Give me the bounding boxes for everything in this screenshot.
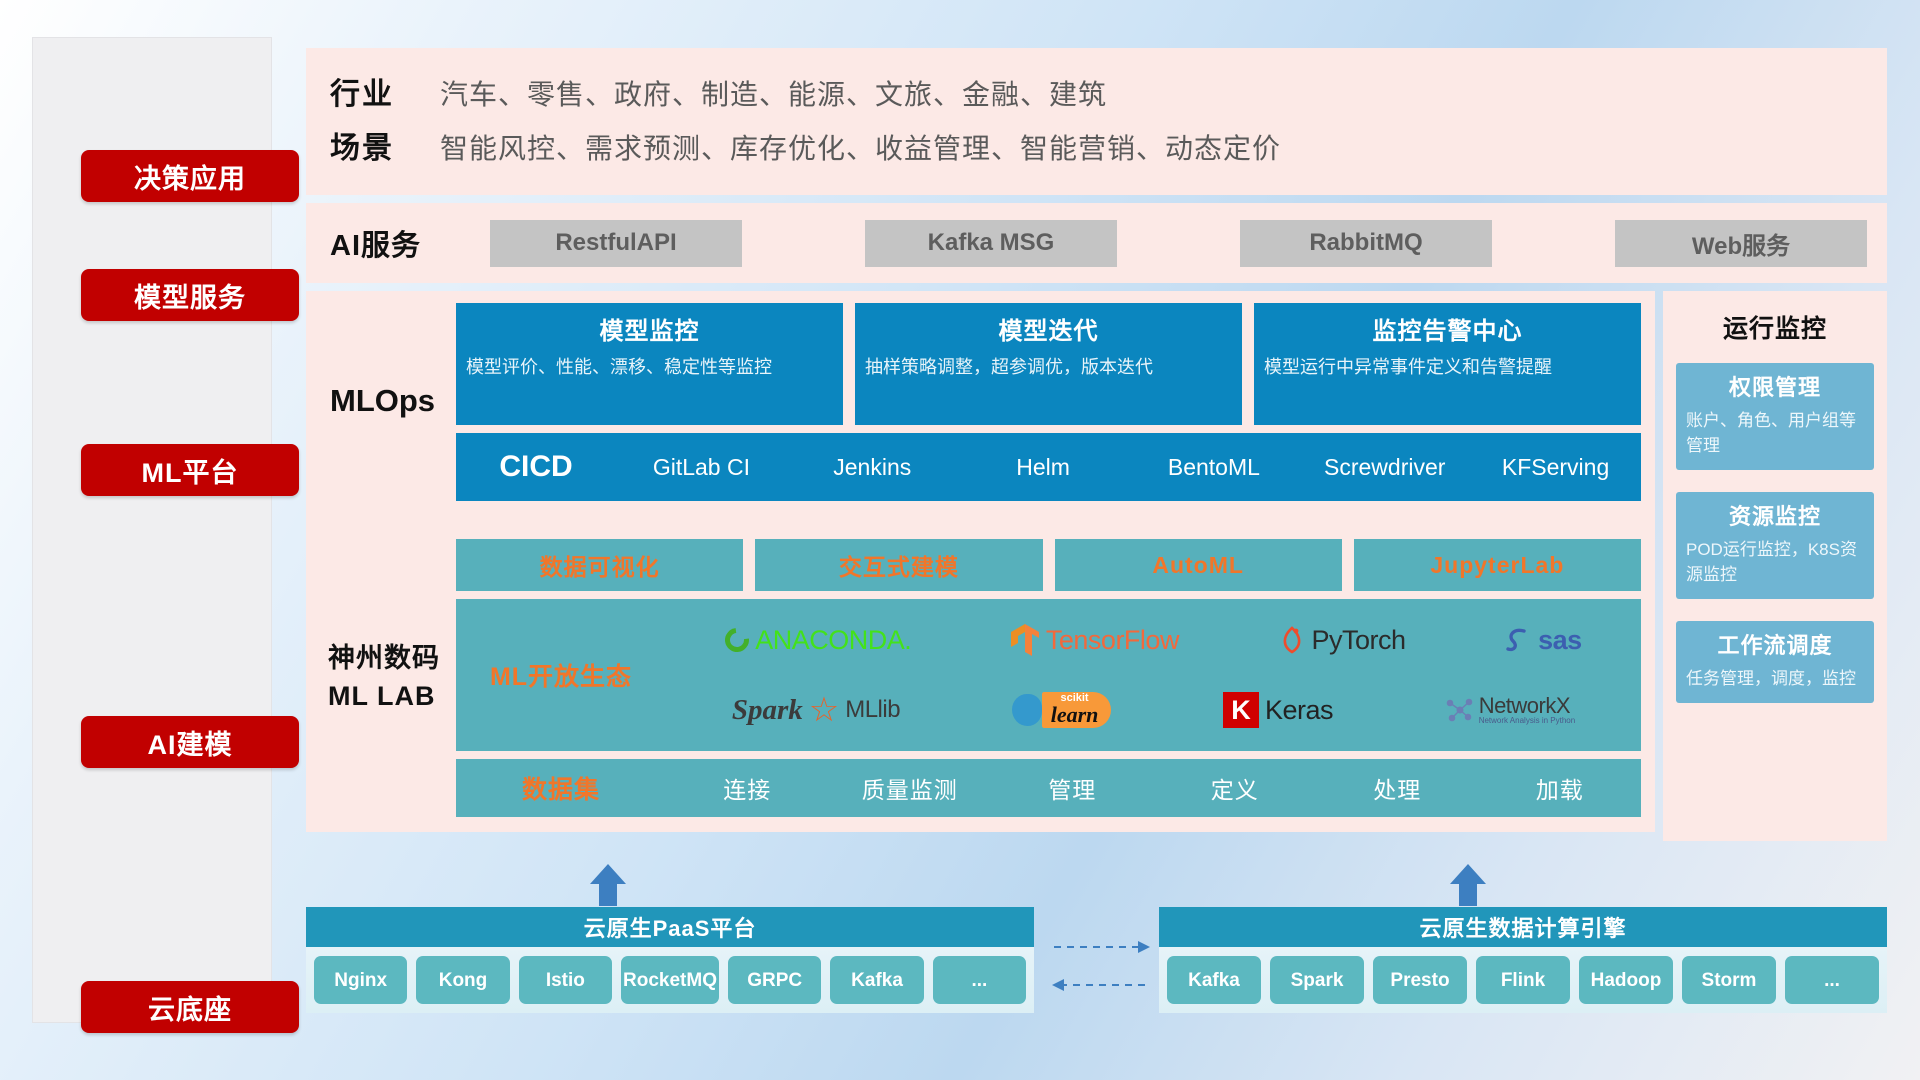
data-engine-chip-spark[interactable]: Spark [1270,956,1364,1004]
dataset-title: 数据集 [456,770,666,806]
ml-lab-label: 神州数码 ML LAB [328,639,440,715]
ml-lab-label-line2: ML LAB [328,677,440,715]
mlops-cards: 模型监控 模型评价、性能、漂移、稳定性等监控 模型迭代 抽样策略调整，超参调优，… [456,303,1641,425]
paas-title: 云原生PaaS平台 [306,907,1034,947]
rail-item-ml-platform[interactable]: ML平台 [81,444,299,496]
dataset-item-definition[interactable]: 定义 [1154,771,1317,805]
monitor-card-title: 资源监控 [1686,499,1864,531]
ecosystem-logos: ANACONDA. TensorFlow [666,599,1641,751]
cicd-title: CICD [456,433,616,501]
tool-chip-automl[interactable]: AutoML [1055,539,1342,591]
mlops-card-desc: 模型运行中异常事件定义和告警提醒 [1264,354,1631,380]
ai-service-chip-web-service[interactable]: Web服务 [1615,220,1867,267]
mlops-card-title: 模型迭代 [865,311,1232,346]
anaconda-logo-text: ANACONDA. [755,625,911,656]
paas-chip-kafka[interactable]: Kafka [830,956,923,1004]
monitor-card-resource[interactable]: 资源监控 POD运行监控，K8S资源监控 [1676,492,1874,599]
learn-text: learn [1051,704,1099,726]
ml-lab-content: 数据可视化 交互式建模 AutoML JupyterLab ML开放生态 [456,539,1641,817]
tool-chip-data-visualization[interactable]: 数据可视化 [456,539,743,591]
cloud-native-paas-block: 云原生PaaS平台 Nginx Kong Istio RocketMQ GRPC… [306,907,1034,1013]
networkx-graph-icon [1445,696,1473,724]
data-engine-chip-storm[interactable]: Storm [1682,956,1776,1004]
mlops-label: MLOps [330,383,435,419]
cicd-item-jenkins[interactable]: Jenkins [787,433,958,496]
cicd-item-screwdriver[interactable]: Screwdriver [1299,433,1470,496]
rail-item-cloud-base[interactable]: 云底座 [81,981,299,1033]
rail-item-ai-modeling[interactable]: AI建模 [81,716,299,768]
data-engine-up-arrow-icon [1446,862,1490,906]
scenario-value: 智能风控、需求预测、库存优化、收益管理、智能营销、动态定价 [440,122,1281,176]
tensorflow-logo-text: TensorFlow [1046,625,1179,656]
spark-star-icon: ☆ [809,696,839,724]
tensorflow-logo: TensorFlow [1010,623,1179,657]
ai-service-chips: RestfulAPI Kafka MSG RabbitMQ Web服务 [490,220,1867,267]
cloud-foundation-row: 云原生PaaS平台 Nginx Kong Istio RocketMQ GRPC… [306,895,1887,1040]
monitor-card-title: 工作流调度 [1686,628,1864,660]
anaconda-ring-icon [720,623,754,657]
ml-lab-tools: 数据可视化 交互式建模 AutoML JupyterLab [456,539,1641,591]
ecosystem-logos-row-1: ANACONDA. TensorFlow [676,607,1631,673]
data-engine-chip-flink[interactable]: Flink [1476,956,1570,1004]
mlops-card-title: 模型监控 [466,311,833,346]
monitor-card-desc: 账户、角色、用户组等管理 [1686,408,1864,458]
mlops-band: MLOps 模型监控 模型评价、性能、漂移、稳定性等监控 模型迭代 抽样策略调整… [306,291,1655,529]
tool-chip-jupyterlab[interactable]: JupyterLab [1354,539,1641,591]
mlops-card-model-monitoring[interactable]: 模型监控 模型评价、性能、漂移、稳定性等监控 [456,303,843,425]
monitor-card-desc: POD运行监控，K8S资源监控 [1686,537,1864,587]
data-engine-chip-hadoop[interactable]: Hadoop [1579,956,1673,1004]
cloud-native-data-engine-block: 云原生数据计算引擎 Kafka Spark Presto Flink Hadoo… [1159,907,1887,1013]
industry-value: 汽车、零售、政府、制造、能源、文旅、金融、建筑 [440,68,1281,122]
mllib-text: MLlib [845,696,900,724]
ai-service-label: AI服务 [330,222,490,264]
cicd-bar: CICD GitLab CI Jenkins Helm BentoML Scre… [456,433,1641,501]
spark-wordmark-text: Spark [732,694,803,727]
industry-label: 行业 [330,68,440,122]
mlops-card-title: 监控告警中心 [1264,311,1631,346]
data-engine-chip-kafka[interactable]: Kafka [1167,956,1261,1004]
spark-mllib-logo: Spark ☆ MLlib [732,694,900,727]
networkx-logo: NetworkX Network Analysis in Python [1445,695,1576,725]
ai-service-chip-kafka-msg[interactable]: Kafka MSG [865,220,1117,267]
tool-chip-interactive-modeling[interactable]: 交互式建模 [755,539,1042,591]
anaconda-logo: ANACONDA. [725,625,911,656]
dataset-row: 数据集 连接 质量监测 管理 定义 处理 加载 [456,759,1641,817]
scikit-learn-logo: scikit learn [1012,692,1112,728]
monitor-card-permission[interactable]: 权限管理 账户、角色、用户组等管理 [1676,363,1874,470]
ml-open-ecosystem-row: ML开放生态 ANACONDA. [456,599,1641,751]
networkx-wordmark: NetworkX Network Analysis in Python [1479,695,1576,725]
mlops-and-monitor-row: MLOps 模型监控 模型评价、性能、漂移、稳定性等监控 模型迭代 抽样策略调整… [306,291,1887,841]
paas-chip-istio[interactable]: Istio [519,956,612,1004]
architecture-diagram: 决策应用 模型服务 ML平台 AI建模 云底座 行业 场景 汽车、零售、政府、制… [0,0,1920,1080]
sas-logo: sas [1504,625,1582,656]
pytorch-logo: PyTorch [1278,624,1406,656]
cicd-item-bentoml[interactable]: BentoML [1128,433,1299,496]
ecosystem-logos-row-2: Spark ☆ MLlib scikit learn [676,677,1631,743]
ml-lab-label-line1: 神州数码 [328,639,440,677]
apps-labels: 行业 场景 [330,68,440,176]
decision-apps-band: 行业 场景 汽车、零售、政府、制造、能源、文旅、金融、建筑 智能风控、需求预测、… [306,48,1887,195]
dataset-item-connect[interactable]: 连接 [666,771,829,805]
dataset-item-management[interactable]: 管理 [991,771,1154,805]
bidirectional-link-arrows [1046,933,1156,1003]
monitor-card-desc: 任务管理，调度，监控 [1686,666,1864,691]
monitor-card-title: 权限管理 [1686,370,1864,402]
paas-chip-nginx[interactable]: Nginx [314,956,407,1004]
ml-open-ecosystem-label: ML开放生态 [456,657,666,693]
dataset-item-loading[interactable]: 加载 [1479,771,1642,805]
apps-values: 汽车、零售、政府、制造、能源、文旅、金融、建筑 智能风控、需求预测、库存优化、收… [440,68,1281,176]
dataset-item-quality-monitoring[interactable]: 质量监测 [829,771,992,805]
rail-item-decision-apps[interactable]: 决策应用 [81,150,299,202]
main-stack: 行业 场景 汽车、零售、政府、制造、能源、文旅、金融、建筑 智能风控、需求预测、… [306,48,1887,849]
paas-up-arrow-icon [586,862,630,906]
cicd-items: GitLab CI Jenkins Helm BentoML Screwdriv… [616,433,1641,496]
rail-item-model-service[interactable]: 模型服务 [81,269,299,321]
ai-service-chip-restfulapi[interactable]: RestfulAPI [490,220,742,267]
data-engine-chip-presto[interactable]: Presto [1373,956,1467,1004]
paas-chip-more[interactable]: ... [933,956,1026,1004]
data-engine-title: 云原生数据计算引擎 [1159,907,1887,947]
sas-swirl-icon [1504,625,1532,655]
scenario-label: 场景 [330,122,440,176]
pytorch-flame-icon [1278,624,1306,656]
networkx-tagline: Network Analysis in Python [1479,717,1576,725]
data-engine-chip-more[interactable]: ... [1785,956,1879,1004]
runtime-monitor-title: 运行监控 [1676,309,1874,345]
paas-chip-rocketmq[interactable]: RocketMQ [621,956,719,1004]
sas-logo-text: sas [1538,625,1582,656]
keras-logo-text: Keras [1265,695,1333,726]
scikit-blob-icon [1012,694,1042,726]
paas-chip-kong[interactable]: Kong [416,956,509,1004]
paas-chips: Nginx Kong Istio RocketMQ GRPC Kafka ... [306,947,1034,1013]
mlops-card-alert-center[interactable]: 监控告警中心 模型运行中异常事件定义和告警提醒 [1254,303,1641,425]
cicd-item-kfserving[interactable]: KFServing [1470,433,1641,496]
keras-logo: K Keras [1223,692,1333,728]
mlops-card-desc: 抽样策略调整，超参调优，版本迭代 [865,354,1232,380]
monitor-card-workflow[interactable]: 工作流调度 任务管理，调度，监控 [1676,621,1874,703]
tensorflow-mark-icon [1010,623,1040,657]
layer-rail: 决策应用 模型服务 ML平台 AI建模 云底座 [33,38,271,1022]
mlops-card-desc: 模型评价、性能、漂移、稳定性等监控 [466,354,833,380]
cicd-item-helm[interactable]: Helm [958,433,1129,496]
networkx-logo-text: NetworkX [1479,695,1576,717]
ai-service-band: AI服务 RestfulAPI Kafka MSG RabbitMQ Web服务 [306,203,1887,283]
keras-k-icon: K [1223,692,1259,728]
paas-chip-grpc[interactable]: GRPC [728,956,821,1004]
cicd-item-gitlab-ci[interactable]: GitLab CI [616,433,787,496]
mlops-card-model-iteration[interactable]: 模型迭代 抽样策略调整，超参调优，版本迭代 [855,303,1242,425]
scikit-learn-wordmark: scikit learn [1042,692,1112,728]
ai-service-chip-rabbitmq[interactable]: RabbitMQ [1240,220,1492,267]
dataset-item-processing[interactable]: 处理 [1316,771,1479,805]
runtime-monitor-panel: 运行监控 权限管理 账户、角色、用户组等管理 资源监控 POD运行监控，K8S资… [1663,291,1887,841]
pytorch-logo-text: PyTorch [1312,625,1406,656]
ai-modeling-band: 神州数码 ML LAB 数据可视化 交互式建模 AutoML JupyterLa… [306,529,1655,832]
data-engine-chips: Kafka Spark Presto Flink Hadoop Storm ..… [1159,947,1887,1013]
